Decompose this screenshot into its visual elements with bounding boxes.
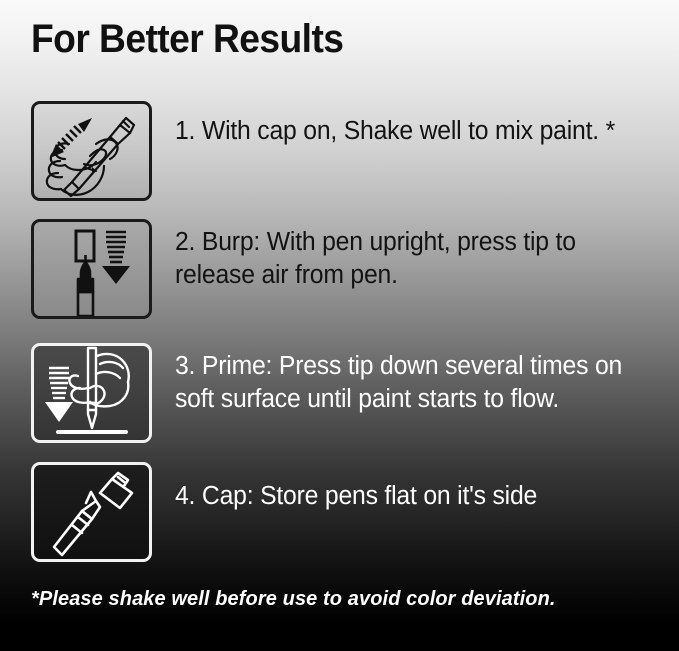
instruction-text-1: 1. With cap on, Shake well to mix paint.… [175, 101, 615, 148]
for-better-results-infographic: For Better Results [0, 0, 679, 651]
prime-press-tip-icon [31, 343, 152, 443]
page-title: For Better Results [31, 16, 343, 62]
shake-pen-icon [31, 101, 152, 201]
instruction-row-4: 4. Cap: Store pens flat on it's side [31, 462, 651, 562]
instruction-row-3: 3. Prime: Press tip down several times o… [31, 343, 651, 443]
instruction-text-2: 2. Burp: With pen upright, press tip to … [175, 219, 637, 292]
instruction-text-4: 4. Cap: Store pens flat on it's side [175, 462, 537, 513]
cap-store-flat-icon [31, 462, 152, 562]
footnote-text: *Please shake well before use to avoid c… [31, 586, 556, 612]
instruction-text-3: 3. Prime: Press tip down several times o… [175, 343, 637, 416]
instruction-row-1: 1. With cap on, Shake well to mix paint.… [31, 101, 651, 201]
burp-pen-upright-icon [31, 219, 152, 319]
instruction-row-2: 2. Burp: With pen upright, press tip to … [31, 219, 651, 319]
